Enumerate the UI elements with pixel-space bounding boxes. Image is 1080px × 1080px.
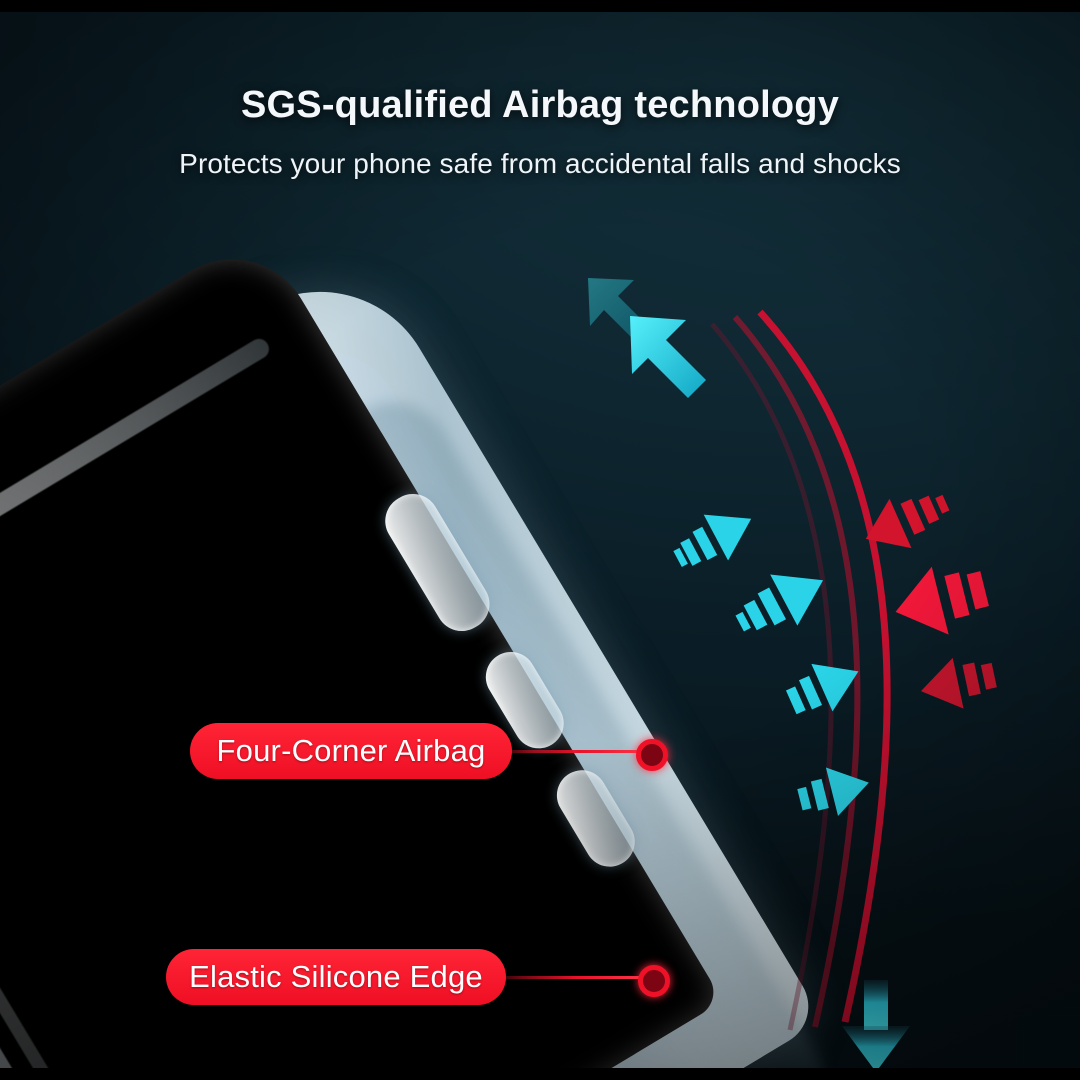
callout-elastic-silicone-edge[interactable]: Elastic Silicone Edge	[166, 949, 506, 1005]
motion-arrow-left-icon	[913, 643, 1015, 721]
scene: 0:20	[0, 12, 1080, 1068]
arrow-down-icon	[838, 980, 914, 1068]
letterbox-bar-bottom	[0, 1068, 1080, 1080]
leader-dot-marker	[638, 965, 670, 997]
motion-arrow-left-icon	[851, 474, 960, 568]
letterbox-bar-top	[0, 0, 1080, 12]
leader-dot-marker	[636, 739, 668, 771]
product-feature-image: 0:20	[0, 0, 1080, 1080]
page-subtitle: Protects your phone safe from accidental…	[0, 148, 1080, 180]
motion-arrow-left-icon	[884, 548, 1010, 650]
callout-leader-line	[485, 976, 653, 979]
callout-four-corner-airbag[interactable]: Four-Corner Airbag	[190, 723, 512, 779]
arrow-up-left-icon	[620, 308, 760, 448]
callout-label: Four-Corner Airbag	[217, 733, 486, 769]
callout-label: Elastic Silicone Edge	[189, 959, 483, 995]
page-title: SGS-qualified Airbag technology	[0, 84, 1080, 127]
